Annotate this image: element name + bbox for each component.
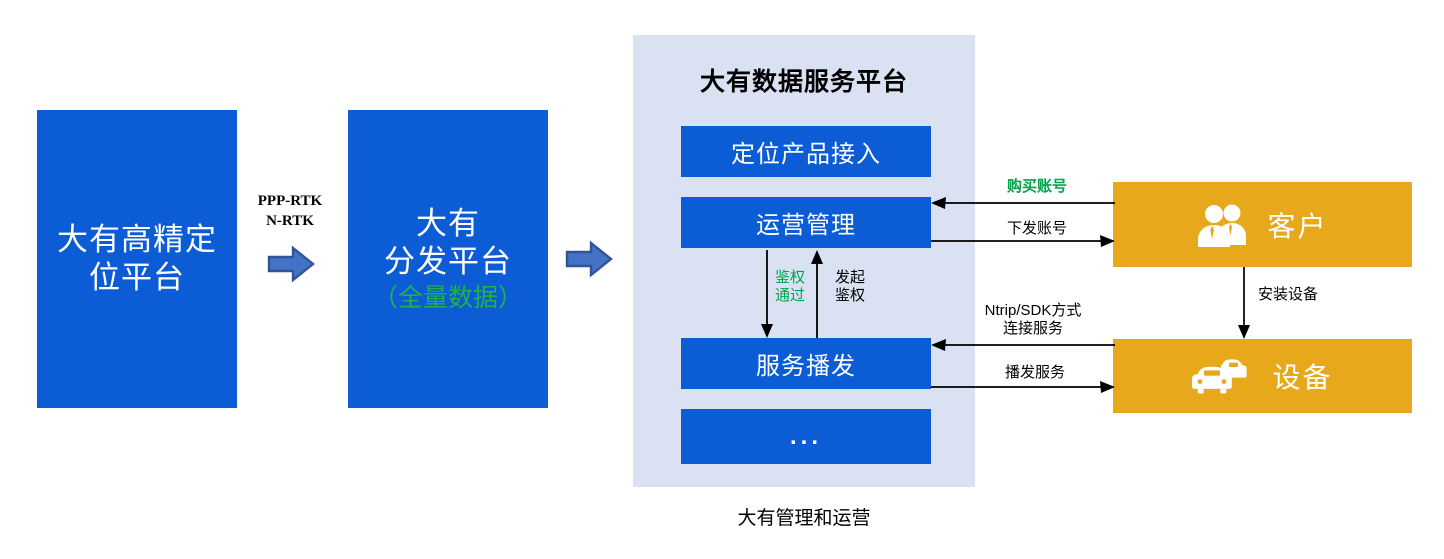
box-high-precision-platform-line1: 大有高精定 (57, 221, 217, 259)
actor-box-customer: 客户 (1113, 182, 1412, 267)
inner-box-product-access: 定位产品接入 (681, 126, 931, 177)
box-high-precision-platform-line2: 位平台 (89, 259, 185, 297)
label-connect-service: Ntrip/SDK方式 连接服务 (963, 302, 1103, 338)
inner-box-service-broadcast: 服务播发 (681, 338, 931, 389)
panel-title: 大有数据服务平台 (633, 62, 975, 98)
label-auth-initiate-line2: 鉴权 (830, 287, 870, 305)
label-ppp-rtk: PPP-RTK N-RTK (240, 191, 340, 232)
label-auth-passed-line1: 鉴权 (770, 269, 810, 287)
actor-box-device: 设备 (1113, 339, 1412, 413)
connector-install-device (1237, 267, 1251, 339)
block-arrow-2 (565, 240, 613, 278)
label-auth-passed: 鉴权 通过 (770, 269, 810, 305)
label-auth-initiate: 发起 鉴权 (830, 269, 870, 305)
box-distribution-platform: 大有 分发平台 （全量数据） (348, 110, 548, 408)
inner-box-product-access-label: 定位产品接入 (731, 134, 881, 169)
label-auth-passed-line2: 通过 (770, 287, 810, 305)
box-distribution-platform-sub: （全量数据） (373, 283, 523, 314)
label-auth-initiate-line1: 发起 (830, 269, 870, 287)
inner-box-operation-management-label: 运营管理 (756, 205, 856, 240)
inner-box-more: ... (681, 409, 931, 464)
actor-box-device-label: 设备 (1272, 356, 1332, 396)
inner-box-operation-management: 运营管理 (681, 197, 931, 248)
connector-connect-service (931, 338, 1115, 352)
inner-box-service-broadcast-label: 服务播发 (756, 346, 856, 381)
block-arrow-1 (267, 245, 315, 283)
diagram-canvas: 大有高精定 位平台 PPP-RTK N-RTK 大有 分发平台 （全量数据） 大… (0, 0, 1444, 559)
inner-box-more-label: ... (790, 432, 822, 442)
label-install-device: 安装设备 (1258, 286, 1338, 304)
connector-issue-account (931, 234, 1115, 248)
label-connect-service-line1: Ntrip/SDK方式 (963, 302, 1103, 320)
label-buy-account: 购买账号 (992, 178, 1082, 196)
cars-icon (1192, 358, 1254, 394)
users-icon (1197, 203, 1249, 247)
box-distribution-platform-line2: 分发平台 (384, 243, 512, 281)
connector-buy-account (931, 196, 1115, 210)
connector-broadcast-service (931, 380, 1115, 394)
label-connect-service-line2: 连接服务 (963, 320, 1103, 338)
box-high-precision-platform: 大有高精定 位平台 (37, 110, 237, 408)
bottom-caption: 大有管理和运营 (633, 503, 975, 530)
label-ppp-rtk-line2: N-RTK (240, 211, 340, 231)
box-distribution-platform-line1: 大有 (416, 205, 480, 243)
actor-box-customer-label: 客户 (1267, 205, 1327, 245)
label-ppp-rtk-line1: PPP-RTK (240, 191, 340, 211)
